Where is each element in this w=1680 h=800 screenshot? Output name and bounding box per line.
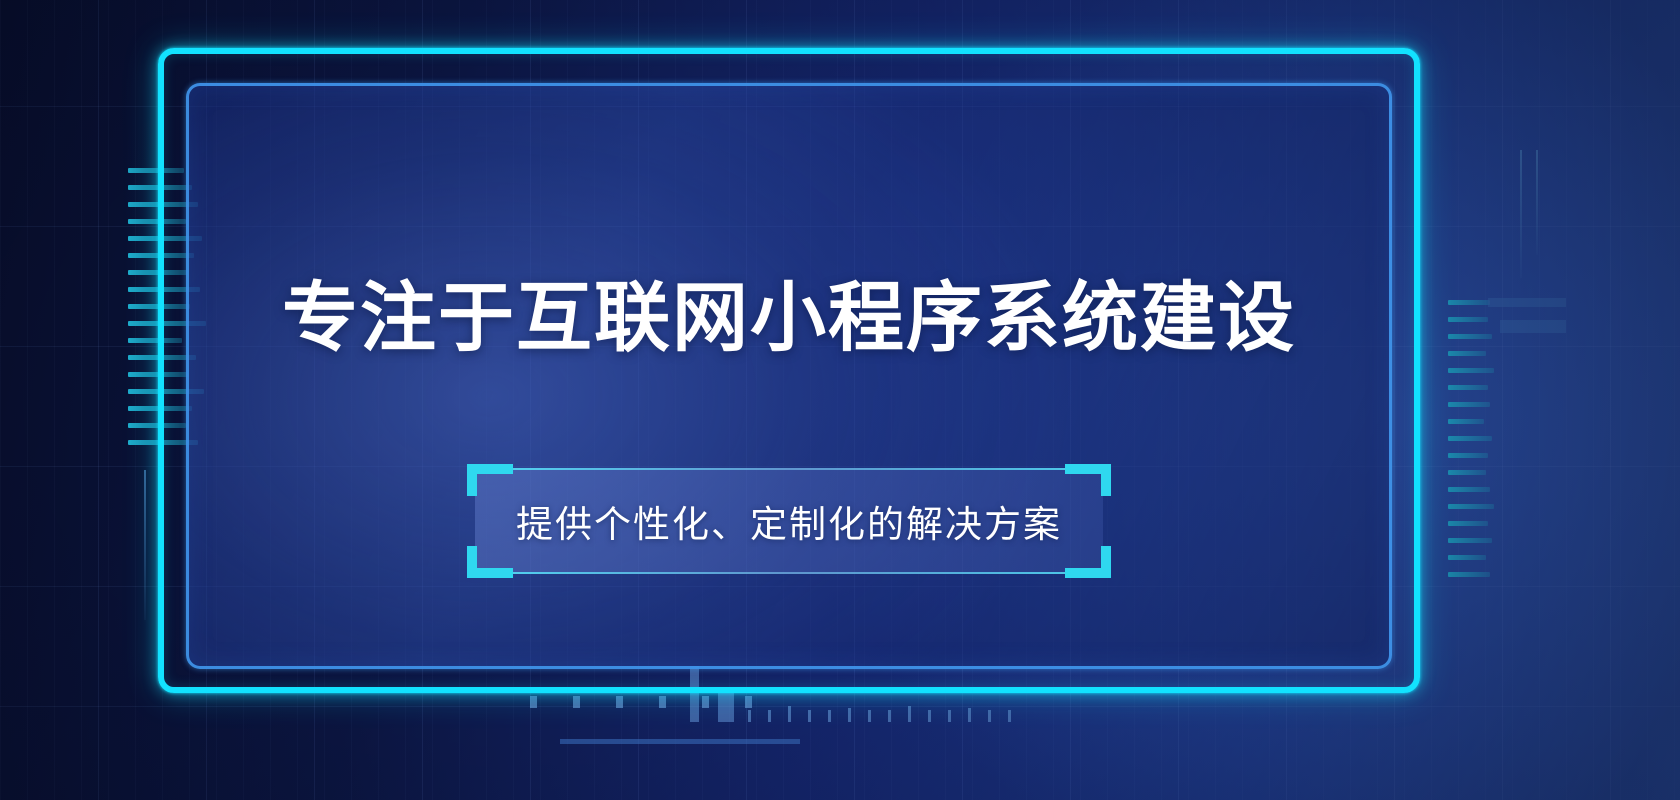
decor-vline — [1520, 150, 1522, 278]
decor-dot — [745, 696, 752, 708]
decor-tick-row — [748, 704, 1011, 722]
decor-dot — [573, 696, 580, 708]
decor-tick — [848, 708, 851, 722]
decor-vertical-lines-right — [1520, 150, 1560, 310]
decor-dot — [702, 696, 709, 708]
decor-bar — [1448, 555, 1486, 560]
decor-tick — [748, 710, 751, 722]
decor-bar — [1448, 351, 1486, 356]
decor-bar — [1448, 385, 1488, 390]
decor-tick — [888, 710, 891, 722]
decor-bar — [1448, 402, 1490, 407]
decor-bar — [1448, 368, 1494, 373]
decor-tick — [808, 710, 811, 722]
decor-bar — [1448, 334, 1492, 339]
decor-bar — [1448, 436, 1492, 441]
decor-bar — [1448, 538, 1492, 543]
decor-tick — [948, 710, 951, 722]
decor-dot-row — [530, 696, 752, 708]
decor-tick — [1008, 710, 1011, 722]
decor-bar — [1448, 572, 1490, 577]
decor-low-bar — [560, 739, 800, 744]
decor-dot — [616, 696, 623, 708]
decor-tick — [768, 710, 771, 722]
decor-vline — [1536, 150, 1538, 255]
decor-tick — [828, 710, 831, 722]
decor-bar — [1448, 419, 1484, 424]
decor-tick — [868, 710, 871, 722]
decor-tick — [788, 706, 791, 722]
decor-vline — [144, 470, 146, 620]
decor-bar — [1448, 487, 1490, 492]
decor-dot — [659, 696, 666, 708]
decor-tick — [988, 710, 991, 722]
neon-outer-frame — [158, 48, 1420, 693]
decor-bar — [1448, 504, 1494, 509]
decor-tick — [908, 706, 911, 722]
decor-bar — [1448, 470, 1486, 475]
decor-bar — [1448, 317, 1488, 322]
decor-bar — [1448, 300, 1490, 305]
decor-dot — [530, 696, 537, 708]
subtitle-box[interactable]: 提供个性化、定制化的解决方案 — [467, 468, 1111, 574]
decor-tick — [968, 708, 971, 722]
decor-bar-stack-right — [1448, 300, 1518, 630]
banner-subtitle: 提供个性化、定制化的解决方案 — [467, 468, 1111, 574]
decor-slab-right-1 — [1488, 298, 1566, 307]
decor-slab-right-2 — [1500, 320, 1566, 333]
decor-tick — [928, 710, 931, 722]
decor-bar — [1448, 453, 1488, 458]
banner-stage: 专注于互联网小程序系统建设 提供个性化、定制化的解决方案 — [0, 0, 1680, 800]
decor-bar — [1448, 521, 1488, 526]
